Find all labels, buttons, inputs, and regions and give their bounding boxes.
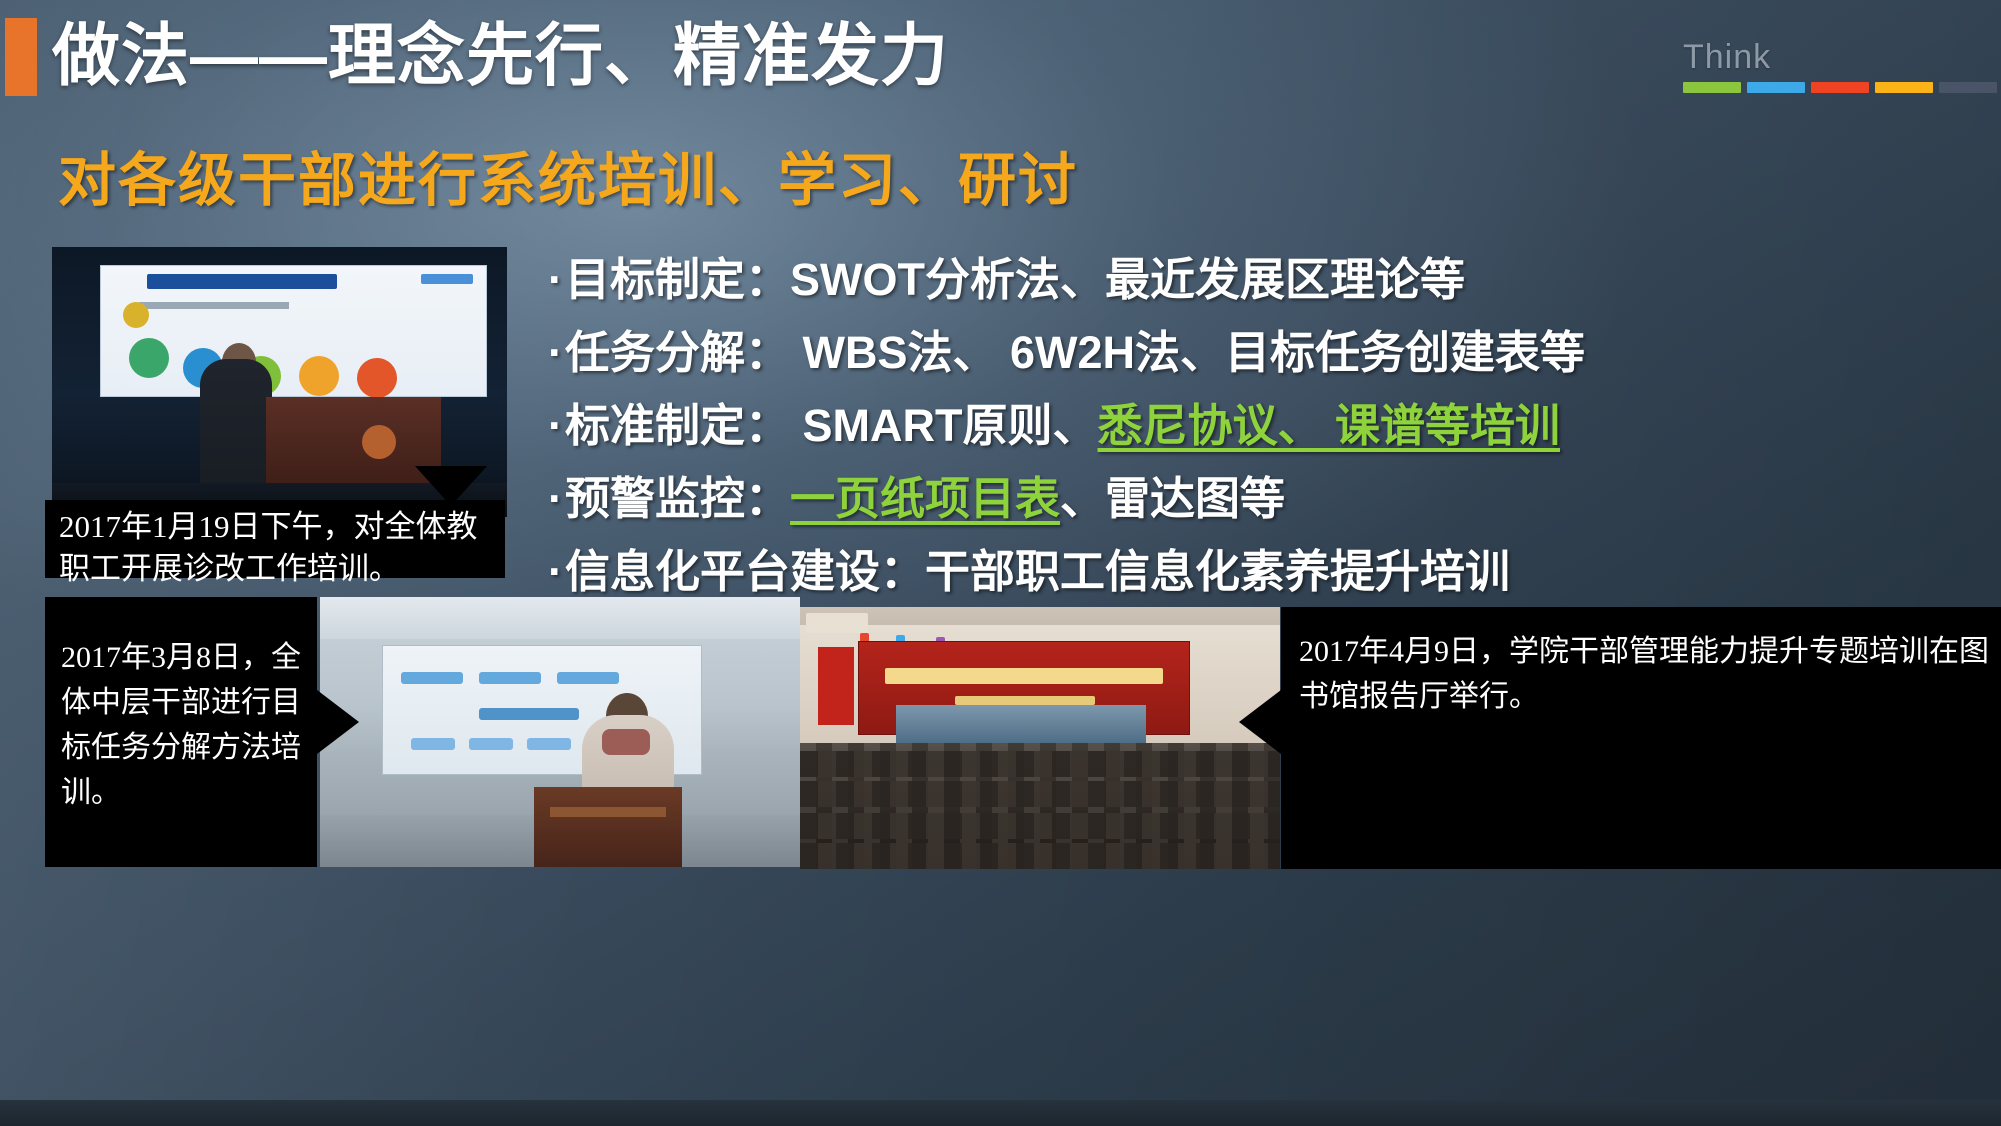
slide-chip: [527, 738, 571, 750]
middle-management-photo: [320, 597, 800, 867]
screen-title-bar: [147, 274, 337, 289]
bullet-item: ·目标制定：SWOT分析法、最近发展区理论等: [548, 243, 1988, 316]
podium-band: [550, 807, 666, 817]
red-flag: [818, 647, 854, 725]
bullet-marker: ·: [548, 316, 563, 389]
page-title: 做法——理念先行、精准发力: [52, 10, 949, 102]
photo-caption-3: 2017年4月9日，学院干部管理能力提升专题培训在图书馆报告厅举行。: [1281, 607, 2001, 869]
gear-icon-5: [357, 358, 397, 398]
logo-bar-slate: [1939, 82, 1997, 93]
bullet-text: 标准制定： SMART原则、: [565, 400, 1098, 451]
auditorium-photo: [800, 607, 1280, 869]
bullet-marker: ·: [548, 462, 563, 535]
slide-chip: [479, 708, 579, 720]
audience-row: [800, 813, 1280, 839]
speaker-scarf: [602, 729, 650, 755]
slide-chip: [401, 672, 463, 684]
title-accent-bar: [5, 18, 37, 96]
logo-bar-green: [1683, 82, 1741, 93]
screen-subtitle-bar: [139, 302, 289, 309]
bullet-item: ·预警监控：一页纸项目表、雷达图等: [548, 462, 1988, 535]
screen-logo: [421, 274, 473, 284]
podium-emblem: [362, 425, 396, 459]
projection-screen: [100, 265, 487, 397]
slide-chip: [469, 738, 513, 750]
bullet-text: 目标制定：SWOT分析法、最近发展区理论等: [565, 254, 1465, 305]
bullet-text: 预警监控：: [565, 473, 790, 524]
think-logo: Think: [1587, 38, 1987, 100]
podium: [534, 787, 682, 867]
logo-color-bars: [1683, 82, 2001, 93]
slide-chip: [557, 672, 619, 684]
banner-photo-strip: [896, 705, 1146, 745]
presentation-slide: 做法——理念先行、精准发力 Think 对各级干部进行系统培训、学习、研讨 ·目…: [0, 0, 2001, 1126]
gear-icon-4: [299, 356, 339, 396]
gear-icon-0: [123, 302, 149, 328]
bullet-list: ·目标制定：SWOT分析法、最近发展区理论等·任务分解： WBS法、 6W2H法…: [548, 243, 1988, 608]
bullet-highlight-text: 一页纸项目表: [790, 473, 1060, 524]
bullet-text: 信息化平台建设：干部职工信息化素养提升培训: [565, 546, 1510, 597]
logo-bar-blue: [1747, 82, 1805, 93]
room-wall: [320, 597, 800, 639]
bullet-item: ·标准制定： SMART原则、悉尼协议、 课谱等培训: [548, 389, 1988, 462]
caption-pointer-3: [1239, 690, 1281, 754]
slide-chip: [411, 738, 455, 750]
banner-date-bar: [955, 696, 1095, 705]
logo-bar-yellow: [1875, 82, 1933, 93]
bullet-marker: ·: [548, 243, 563, 316]
photo-caption-2: 2017年3月8日，全体中层干部进行目标任务分解方法培训。: [45, 597, 317, 867]
logo-wordmark: Think: [1683, 38, 1771, 77]
photo-caption-1: 2017年1月19日下午，对全体教职工开展诊改工作培训。: [45, 500, 505, 578]
gear-icon-1: [129, 338, 169, 378]
banner-title-bar: [885, 668, 1163, 684]
bottom-strip: [0, 1100, 2001, 1126]
logo-bar-red: [1811, 82, 1869, 93]
audience-row: [800, 751, 1280, 777]
institution-logo: [806, 613, 868, 633]
bullet-marker: ·: [548, 389, 563, 462]
audience-row: [800, 781, 1280, 807]
bullet-highlight-text: 悉尼协议、 课谱等培训: [1098, 400, 1561, 451]
bullet-text: 、雷达图等: [1060, 473, 1285, 524]
slide-chip: [479, 672, 541, 684]
bullet-text: 任务分解： WBS法、 6W2H法、目标任务创建表等: [565, 327, 1585, 378]
section-subtitle: 对各级干部进行系统培训、学习、研讨: [58, 133, 1078, 217]
bullet-item: ·任务分解： WBS法、 6W2H法、目标任务创建表等: [548, 316, 1988, 389]
caption-pointer-2: [317, 690, 359, 754]
audience-row: [800, 843, 1280, 869]
